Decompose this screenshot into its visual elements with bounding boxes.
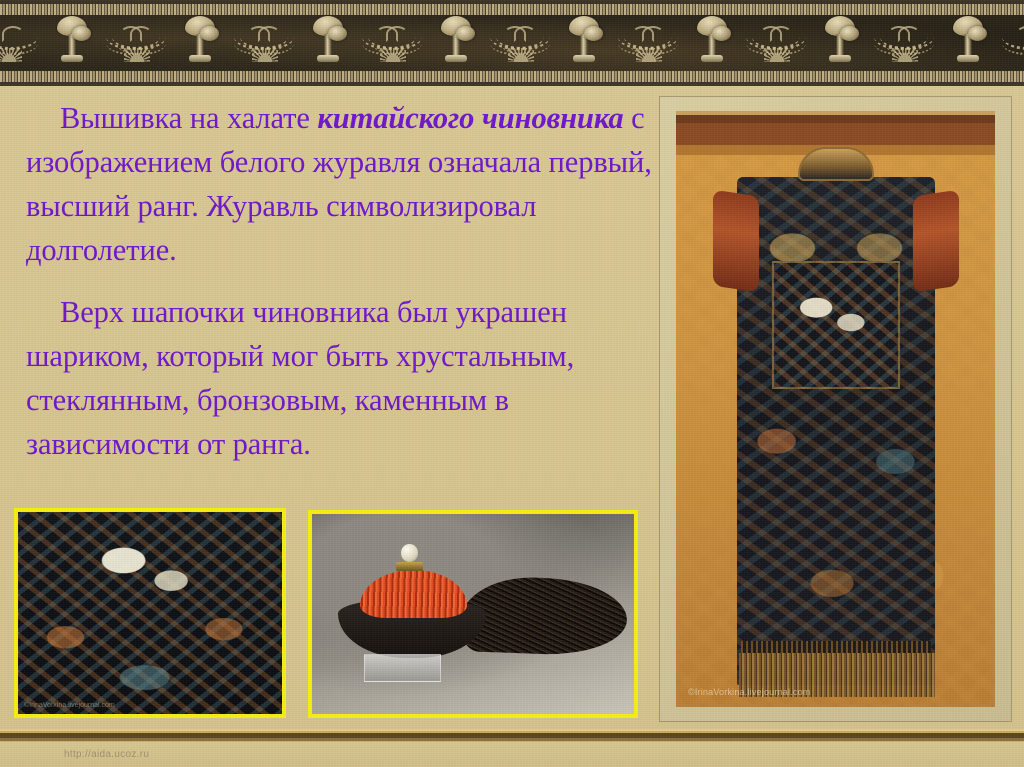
palmette-icon — [380, 48, 406, 62]
paragraph-1: Вышивка на халате китайского чиновника с… — [26, 96, 658, 272]
scroll-curl-icon — [258, 26, 280, 42]
thumbnail-crane-badge-detail[interactable]: ©IrinaVorkina.livejournal.com — [14, 508, 286, 718]
robe-watermark: ©IrinaVorkina.livejournal.com — [688, 687, 810, 697]
medallion-icon — [712, 26, 731, 41]
jade-finial-ball — [401, 544, 419, 562]
medallion-icon — [968, 26, 987, 41]
chinese-official-robe — [711, 141, 961, 701]
robe-collar — [798, 147, 874, 181]
medallion-icon — [200, 26, 219, 41]
paragraph-2: Верх шапочки чиновника был украшен шарик… — [26, 290, 658, 466]
footer-url[interactable]: http://aida.ucoz.ru — [64, 749, 149, 760]
palmette-icon — [252, 48, 278, 62]
palmette-icon — [892, 48, 918, 62]
slide-root: Вышивка на халате китайского чиновника с… — [0, 0, 1024, 767]
text-column: Вышивка на халате китайского чиновника с… — [26, 96, 658, 466]
palmette-icon — [508, 48, 534, 62]
scroll-curl-icon — [770, 26, 792, 42]
red-silk-fringe — [360, 570, 466, 618]
crane-badge-embroidery-art — [18, 512, 282, 714]
crane-rank-badge — [772, 261, 900, 389]
top-ornament-border — [0, 0, 1024, 86]
scroll-curl-icon — [2, 26, 24, 42]
urn-swag-motif — [904, 14, 1024, 72]
robe-body — [737, 177, 935, 685]
acrylic-display-stand — [364, 654, 441, 682]
medallion-icon — [584, 26, 603, 41]
scroll-curl-icon — [130, 26, 152, 42]
palmette-icon — [636, 48, 662, 62]
robe-shoulder-right — [913, 190, 959, 292]
palmette-icon — [0, 48, 22, 62]
paragraph-1-emphasis: китайского чиновника — [317, 101, 623, 135]
scroll-curl-icon — [386, 26, 408, 42]
frieze-rail-bottom — [0, 71, 1024, 82]
medallion-icon — [328, 26, 347, 41]
scroll-curl-icon — [1016, 26, 1024, 42]
scroll-curl-icon — [898, 26, 920, 42]
robe-photo-frame: ©IrinaVorkina.livejournal.com — [660, 97, 1011, 721]
robe-shoulder-left — [713, 190, 759, 292]
paragraph-1-lead: Вышивка на халате — [60, 101, 317, 135]
medallion-icon — [456, 26, 475, 41]
scroll-curl-icon — [642, 26, 664, 42]
palmette-icon — [764, 48, 790, 62]
bottom-gold-divider — [0, 729, 1024, 742]
finial-base — [396, 562, 423, 571]
hat-photo-background — [312, 514, 634, 714]
medallion-icon — [840, 26, 859, 41]
thumbnail-official-hat[interactable] — [308, 510, 638, 718]
robe-photo: ©IrinaVorkina.livejournal.com — [676, 111, 995, 707]
medallion-icon — [72, 26, 91, 41]
palmette-icon — [124, 48, 150, 62]
badge-watermark: ©IrinaVorkina.livejournal.com — [24, 702, 115, 709]
footer-bar: http://aida.ucoz.ru — [0, 742, 1024, 767]
scroll-curl-icon — [514, 26, 536, 42]
